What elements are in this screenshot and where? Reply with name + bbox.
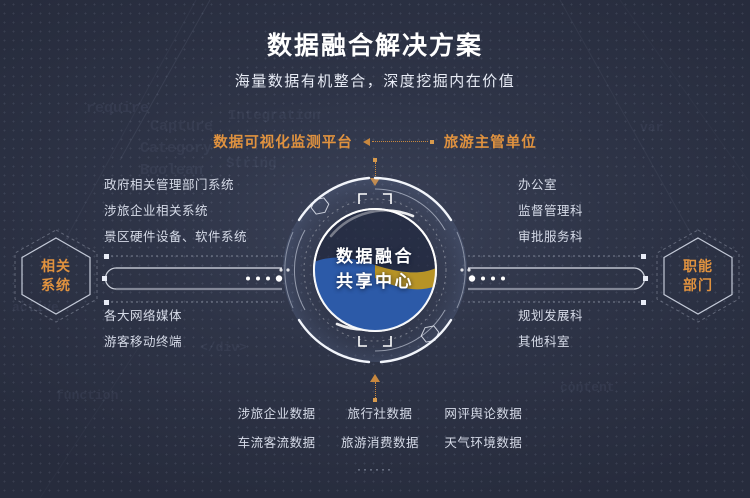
grid-item[interactable]: 网评舆论数据: [432, 402, 535, 426]
grid-item[interactable]: 车流客流数据: [225, 431, 328, 455]
bottom-data-grid: 涉旅企业数据 旅行社数据 网评舆论数据 车流客流数据 旅游消费数据 天气环境数据: [225, 402, 535, 455]
data-fusion-core[interactable]: 数据融合 共享中心: [263, 158, 487, 382]
right-list-top: 办公室 监督管理科 审批服务科: [518, 172, 583, 250]
connector-pipe-right: [464, 248, 664, 310]
hex-right-line2: 部门: [683, 276, 713, 295]
list-item[interactable]: 景区硬件设备、软件系统: [104, 224, 247, 250]
watermark-text: function: [56, 388, 118, 403]
top-label-row: 数据可视化监测平台 旅游主管单位: [0, 131, 750, 152]
list-item[interactable]: 游客移动终端: [104, 329, 182, 355]
list-item[interactable]: 监督管理科: [518, 198, 583, 224]
list-item[interactable]: 规划发展科: [518, 303, 583, 329]
grid-item[interactable]: 天气环境数据: [432, 431, 535, 455]
left-list-top: 政府相关管理部门系统 涉旅企业相关系统 景区硬件设备、软件系统: [104, 172, 247, 250]
right-list-bottom: 规划发展科 其他科室: [518, 303, 583, 355]
list-item[interactable]: 政府相关管理部门系统: [104, 172, 247, 198]
label-visualization-platform[interactable]: 数据可视化监测平台: [213, 131, 353, 152]
list-item[interactable]: 涉旅企业相关系统: [104, 198, 247, 224]
list-item[interactable]: 审批服务科: [518, 224, 583, 250]
left-arrow-dotted-icon: [363, 138, 434, 146]
hex-right-line1: 职能: [683, 257, 713, 276]
hexagon-right-label: 职能 部门: [654, 228, 742, 324]
core-line-1: 数据融合: [336, 245, 414, 270]
hex-left-line1: 相关: [41, 257, 71, 276]
list-item[interactable]: 各大网络媒体: [104, 303, 182, 329]
watermark-text: </div>: [200, 340, 247, 355]
watermark-text: require: [86, 100, 149, 117]
grid-item[interactable]: 旅行社数据: [328, 402, 431, 426]
grid-item[interactable]: 涉旅企业数据: [225, 402, 328, 426]
watermark-text: Integration: [228, 108, 320, 124]
page-subtitle: 海量数据有机整合，深度挖掘内在价值: [0, 70, 750, 91]
list-item[interactable]: 其他科室: [518, 329, 583, 355]
core-line-2: 共享中心: [336, 270, 414, 295]
list-item[interactable]: 办公室: [518, 172, 583, 198]
page-title: 数据融合解决方案: [0, 26, 750, 62]
infographic-canvas: require Capture Category Boolean Integra…: [0, 0, 750, 498]
left-list-bottom: 各大网络媒体 游客移动终端: [104, 303, 182, 355]
grid-item[interactable]: 旅游消费数据: [328, 431, 431, 455]
label-tourism-authority[interactable]: 旅游主管单位: [444, 131, 537, 152]
hex-left-line2: 系统: [41, 276, 71, 295]
grid-ellipsis: ······: [0, 462, 750, 476]
hexagon-functional-departments[interactable]: 职能 部门: [654, 228, 742, 324]
watermark-text: content: [560, 380, 615, 395]
core-label: 数据融合 共享中心: [263, 158, 487, 382]
connector-pipe-left: [86, 248, 286, 310]
